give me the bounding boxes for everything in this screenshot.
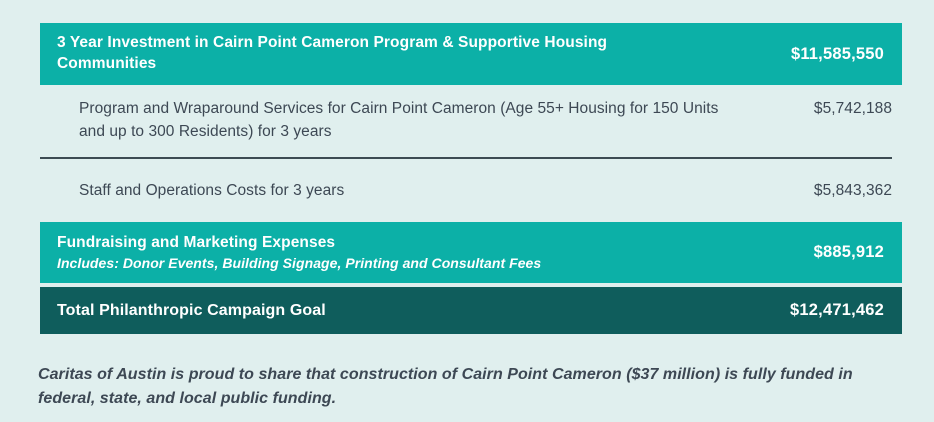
table-row: Staff and Operations Costs for 3 years $… bbox=[40, 179, 902, 202]
line-item-description: Program and Wraparound Services for Cair… bbox=[79, 97, 719, 144]
header-row-amount: $11,585,550 bbox=[791, 45, 884, 64]
fundraising-row: Fundraising and Marketing Expenses Inclu… bbox=[40, 222, 902, 283]
footer-note: Caritas of Austin is proud to share that… bbox=[38, 363, 868, 411]
row-divider bbox=[40, 157, 892, 159]
total-row: Total Philanthropic Campaign Goal $12,47… bbox=[40, 287, 902, 334]
header-row: 3 Year Investment in Cairn Point Cameron… bbox=[40, 23, 902, 85]
fundraising-label-wrap: Fundraising and Marketing Expenses Inclu… bbox=[57, 233, 541, 272]
line-item-description: Staff and Operations Costs for 3 years bbox=[79, 179, 344, 202]
total-row-title: Total Philanthropic Campaign Goal bbox=[57, 300, 326, 321]
total-row-amount: $12,471,462 bbox=[790, 301, 884, 320]
campaign-budget-table: 3 Year Investment in Cairn Point Cameron… bbox=[0, 0, 934, 422]
fundraising-row-amount: $885,912 bbox=[814, 243, 884, 262]
header-label-wrap: 3 Year Investment in Cairn Point Cameron… bbox=[57, 33, 677, 74]
fundraising-row-subtitle: Includes: Donor Events, Building Signage… bbox=[57, 254, 541, 272]
header-row-title: 3 Year Investment in Cairn Point Cameron… bbox=[57, 33, 677, 74]
line-item-amount: $5,742,188 bbox=[814, 97, 892, 120]
table-row: Program and Wraparound Services for Cair… bbox=[40, 97, 902, 144]
total-label-wrap: Total Philanthropic Campaign Goal bbox=[57, 300, 326, 321]
line-item-amount: $5,843,362 bbox=[814, 179, 892, 202]
fundraising-row-title: Fundraising and Marketing Expenses bbox=[57, 233, 541, 254]
